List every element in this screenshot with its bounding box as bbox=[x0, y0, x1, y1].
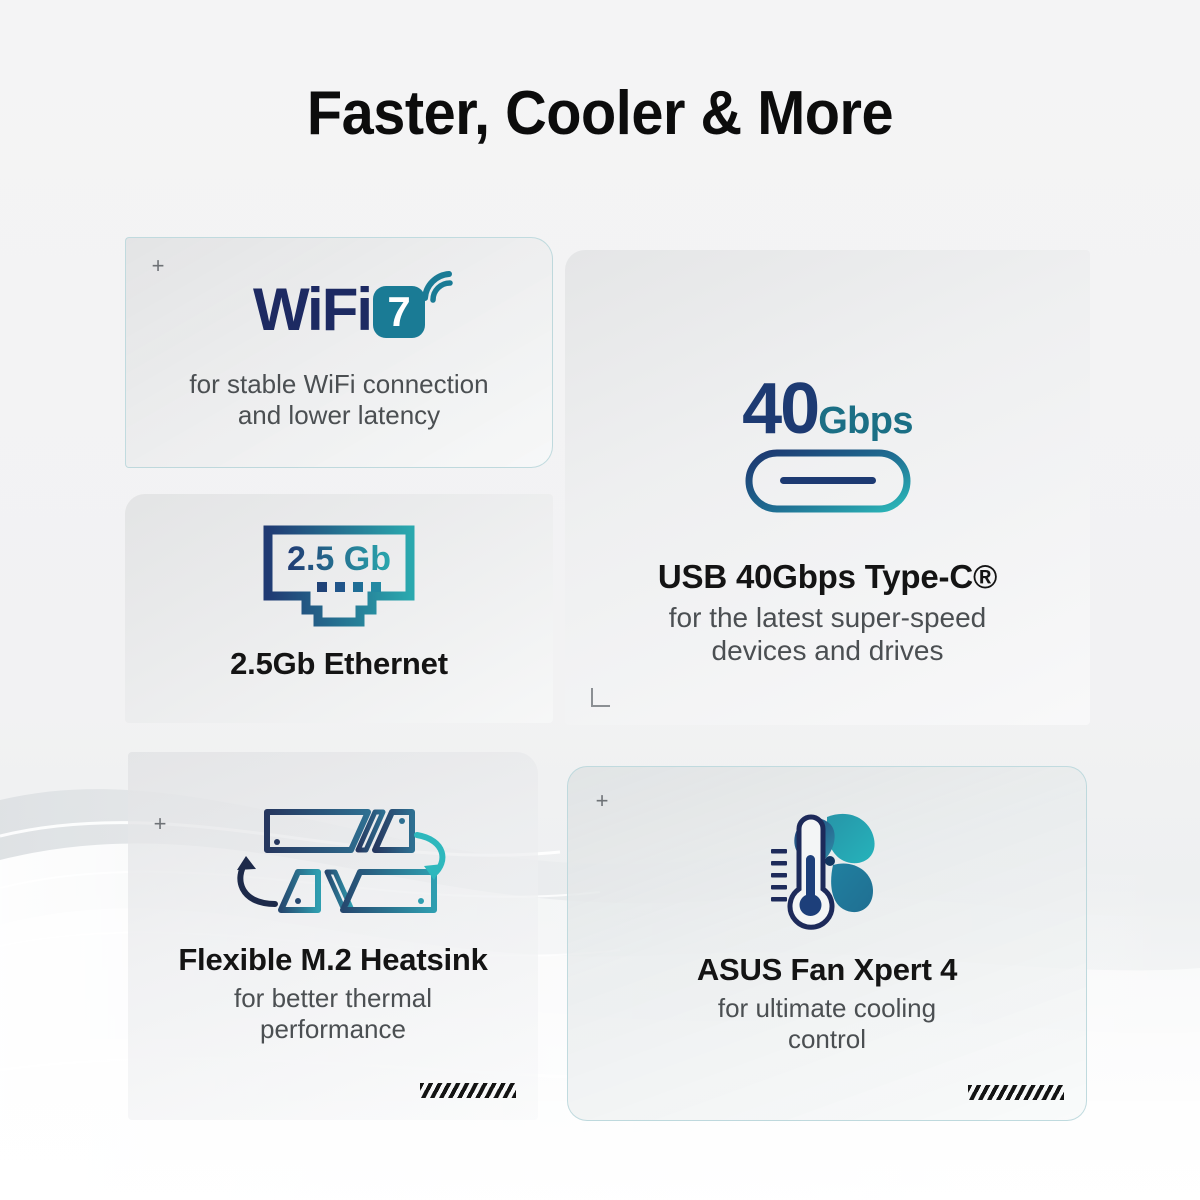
wifi7-subtitle: for stable WiFi connection and lower lat… bbox=[126, 369, 552, 430]
usb-type-c-port-icon bbox=[565, 448, 1090, 514]
wifi7-logo: WiFi7 bbox=[253, 274, 425, 346]
usb-speed-value: 40 bbox=[742, 369, 818, 449]
feature-card-ethernet[interactable]: 2.5 Gb 2.5Gb Ethernet bbox=[125, 494, 553, 723]
plus-marker-icon: + bbox=[592, 791, 612, 811]
svg-text:2.5 Gb: 2.5 Gb bbox=[287, 540, 391, 578]
hatch-stripes-marker-icon bbox=[968, 1085, 1064, 1100]
rj45-ethernet-port-icon: 2.5 Gb bbox=[125, 522, 553, 630]
fan-xpert-title: ASUS Fan Xpert 4 bbox=[568, 952, 1086, 988]
usb-subtitle-line1: for the latest super-speed bbox=[565, 601, 1090, 634]
m2-heatsink-title: Flexible M.2 Heatsink bbox=[128, 942, 538, 978]
fan-xpert-subtitle-line1: for ultimate cooling bbox=[568, 993, 1086, 1024]
ethernet-title: 2.5Gb Ethernet bbox=[125, 646, 553, 682]
feature-card-fan-xpert[interactable]: + bbox=[567, 766, 1087, 1121]
corner-bracket-marker-icon bbox=[591, 688, 610, 707]
feature-card-m2-heatsink[interactable]: + bbox=[128, 752, 538, 1120]
m2-heatsink-subtitle-line2: performance bbox=[128, 1014, 538, 1045]
wifi-generation-badge: 7 bbox=[373, 286, 425, 338]
usb-speed-lockup: 40Gbps bbox=[565, 368, 1090, 450]
m2-heatsink-subtitle: for better thermal performance bbox=[128, 983, 538, 1044]
plus-marker-icon: + bbox=[148, 256, 168, 276]
feature-card-usb[interactable]: 40Gbps USB 40Gbps bbox=[565, 250, 1090, 725]
wifi-wordmark: WiFi bbox=[253, 276, 371, 343]
usb-subtitle: for the latest super-speed devices and d… bbox=[565, 601, 1090, 667]
hatch-stripes-marker-icon bbox=[420, 1083, 516, 1098]
m2-heatsink-rotate-icon bbox=[128, 800, 538, 924]
fan-xpert-subtitle-line2: control bbox=[568, 1024, 1086, 1055]
wifi7-subtitle-line1: for stable WiFi connection bbox=[126, 369, 552, 400]
thermometer-fan-icon bbox=[568, 809, 1086, 937]
m2-heatsink-subtitle-line1: for better thermal bbox=[128, 983, 538, 1014]
feature-card-wifi7[interactable]: + WiFi7 for stable WiFi connection and l… bbox=[125, 237, 553, 468]
usb-subtitle-line2: devices and drives bbox=[565, 634, 1090, 667]
page-title: Faster, Cooler & More bbox=[42, 78, 1158, 149]
usb-speed-unit: Gbps bbox=[818, 400, 913, 442]
fan-xpert-subtitle: for ultimate cooling control bbox=[568, 993, 1086, 1054]
wifi-signal-icon bbox=[419, 268, 459, 308]
wifi7-subtitle-line2: and lower latency bbox=[126, 400, 552, 431]
usb-title: USB 40Gbps Type-C® bbox=[565, 558, 1090, 596]
feature-graphic-page: Faster, Cooler & More + WiFi7 for stable… bbox=[0, 0, 1200, 1200]
